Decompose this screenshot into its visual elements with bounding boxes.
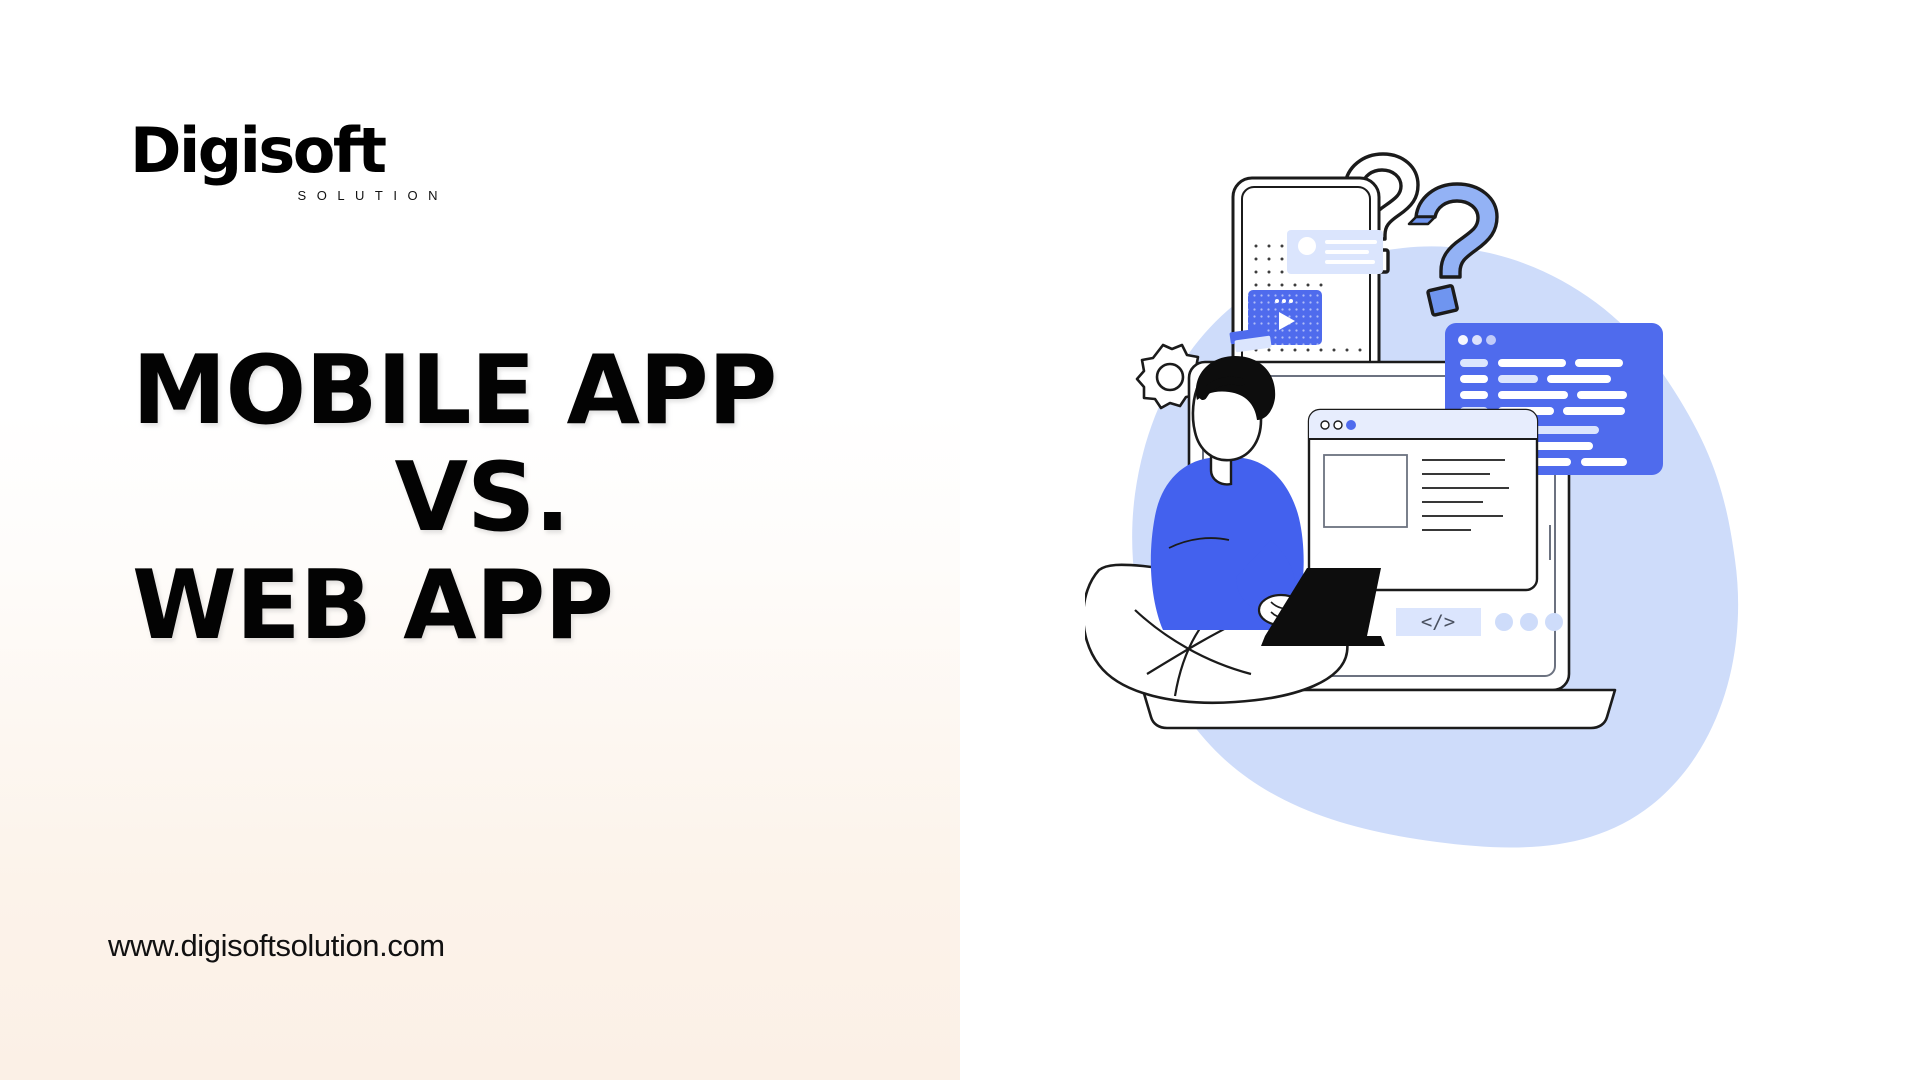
code-badge-label: </> xyxy=(1421,611,1455,633)
notification-card xyxy=(1287,230,1383,274)
title-line-3: WEB APP xyxy=(132,553,832,660)
title-line-1: MOBILE APP xyxy=(132,338,832,445)
hero-illustration: </> xyxy=(1085,140,1825,930)
browser-window xyxy=(1309,410,1537,590)
logo-wordmark: Digisoft xyxy=(130,122,450,181)
website-url[interactable]: www.digisoftsolution.com xyxy=(108,928,445,964)
brand-logo[interactable]: Digisoft SOLUTION xyxy=(130,122,450,203)
page-title: MOBILE APP VS. WEB APP xyxy=(132,338,832,660)
title-line-2: VS. xyxy=(132,445,832,552)
logo-subtitle: SOLUTION xyxy=(130,188,450,203)
poster-canvas: Digisoft SOLUTION MOBILE APP VS. WEB APP… xyxy=(0,0,1920,1080)
